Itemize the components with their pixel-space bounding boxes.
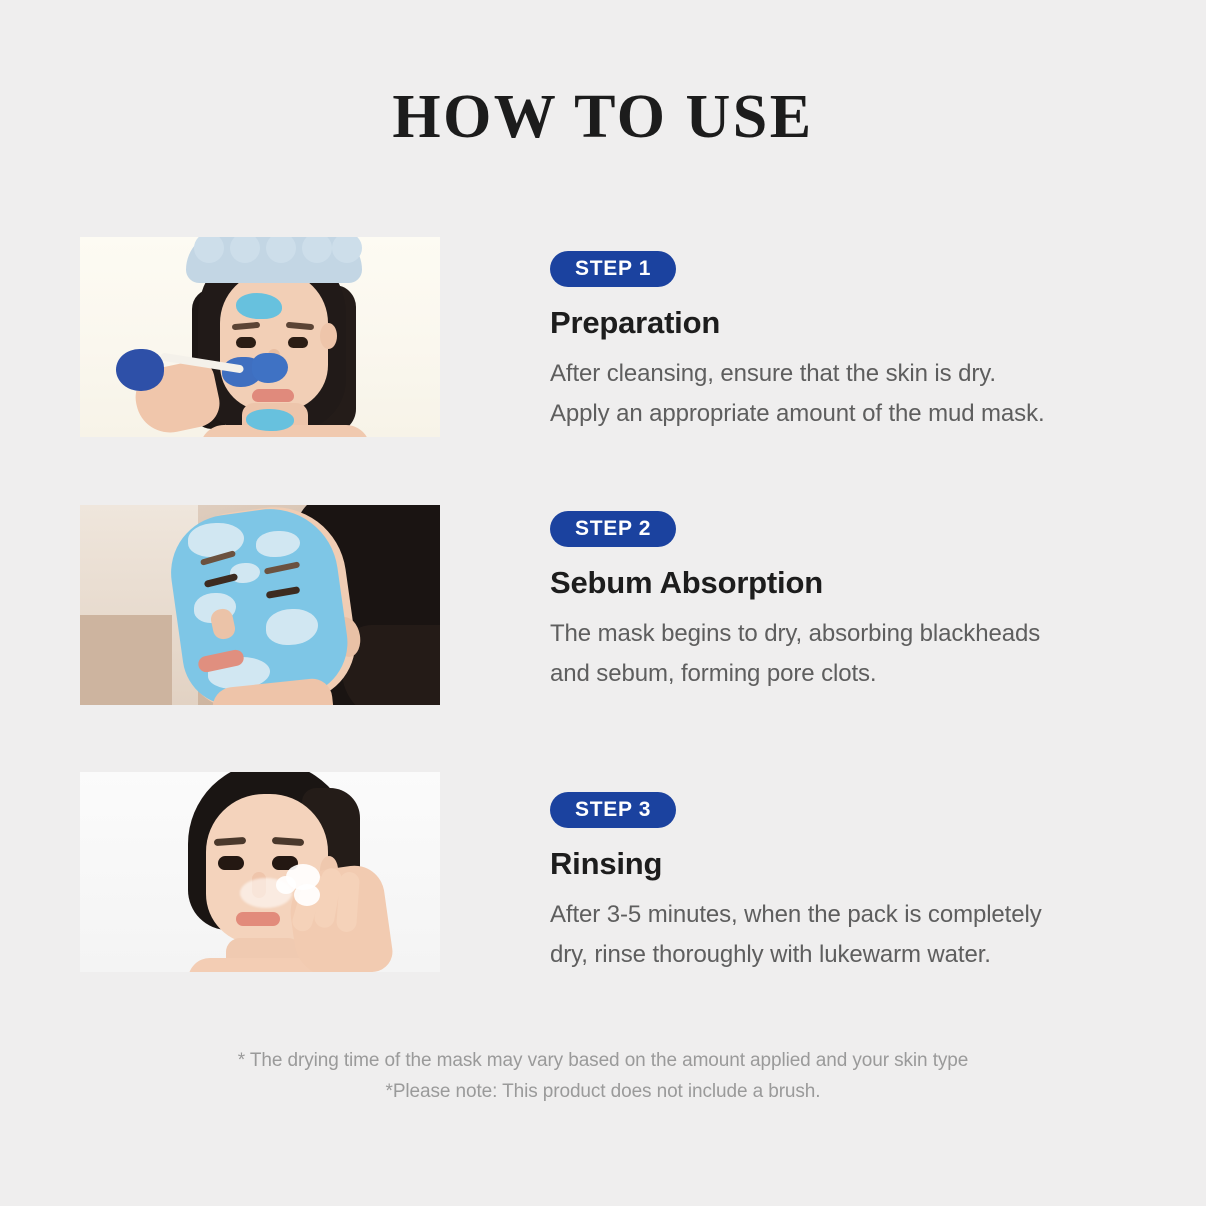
step-row: STEP 2 Sebum Absorption The mask begins … [80, 505, 1140, 772]
mask-patch-forehead [236, 293, 282, 319]
step-1-title: Preparation [550, 306, 1140, 340]
footnotes: * The drying time of the mask may vary b… [0, 1046, 1206, 1108]
step-3-desc-line-1: After 3-5 minutes, when the pack is comp… [550, 901, 1042, 928]
how-to-use-page: HOW TO USE [0, 0, 1206, 1206]
step-3-desc-line-2: dry, rinse thoroughly with lukewarm wate… [550, 935, 1140, 975]
step-row: STEP 1 Preparation After cleansing, ensu… [80, 237, 1140, 505]
step-2-description: The mask begins to dry, absorbing blackh… [550, 614, 1140, 695]
eye-left [236, 337, 256, 348]
step-3-description: After 3-5 minutes, when the pack is comp… [550, 895, 1140, 976]
step-1-image [80, 237, 440, 437]
step-1-desc-line-1: After cleansing, ensure that the skin is… [550, 360, 996, 387]
headband-knot [302, 237, 332, 263]
step-3-title: Rinsing [550, 847, 1140, 881]
step-2-title: Sebum Absorption [550, 566, 1140, 600]
step-2-desc-line-2: and sebum, forming pore clots. [550, 654, 1140, 694]
headband-knot [230, 237, 260, 263]
step-2-image [80, 505, 440, 705]
step-1-desc-line-2: Apply an appropriate amount of the mud m… [550, 394, 1140, 434]
step-2-text: STEP 2 Sebum Absorption The mask begins … [440, 505, 1140, 695]
headband-knot [266, 237, 296, 263]
step-3-image [80, 772, 440, 972]
step-1-badge: STEP 1 [550, 251, 676, 287]
step-3-text: STEP 3 Rinsing After 3-5 minutes, when t… [440, 772, 1140, 976]
wall-panel-lower [80, 615, 172, 705]
step-1-text: STEP 1 Preparation After cleansing, ensu… [440, 237, 1140, 435]
step-row: STEP 3 Rinsing After 3-5 minutes, when t… [80, 772, 1140, 976]
foam-blob [276, 876, 296, 894]
step-2-badge: STEP 2 [550, 511, 676, 547]
footnote-no-brush: *Please note: This product does not incl… [0, 1077, 1206, 1108]
step-2-desc-line-1: The mask begins to dry, absorbing blackh… [550, 620, 1040, 647]
steps-list: STEP 1 Preparation After cleansing, ensu… [80, 237, 1140, 976]
footnote-drying-time: * The drying time of the mask may vary b… [0, 1046, 1206, 1077]
mask-patch-chin [246, 409, 294, 431]
page-title: HOW TO USE [0, 86, 1206, 148]
foam-blob [294, 884, 320, 906]
headband-knot [332, 237, 362, 263]
spa-headband [186, 237, 362, 283]
step-3-badge: STEP 3 [550, 792, 676, 828]
headband-knot [194, 237, 224, 263]
ear [320, 323, 337, 349]
brush-head-with-mud [116, 349, 164, 391]
eye-left [218, 856, 244, 870]
lips [252, 389, 294, 402]
step-1-description: After cleansing, ensure that the skin is… [550, 354, 1140, 435]
eye-right [288, 337, 308, 348]
finger [336, 871, 360, 932]
lips [236, 912, 280, 926]
